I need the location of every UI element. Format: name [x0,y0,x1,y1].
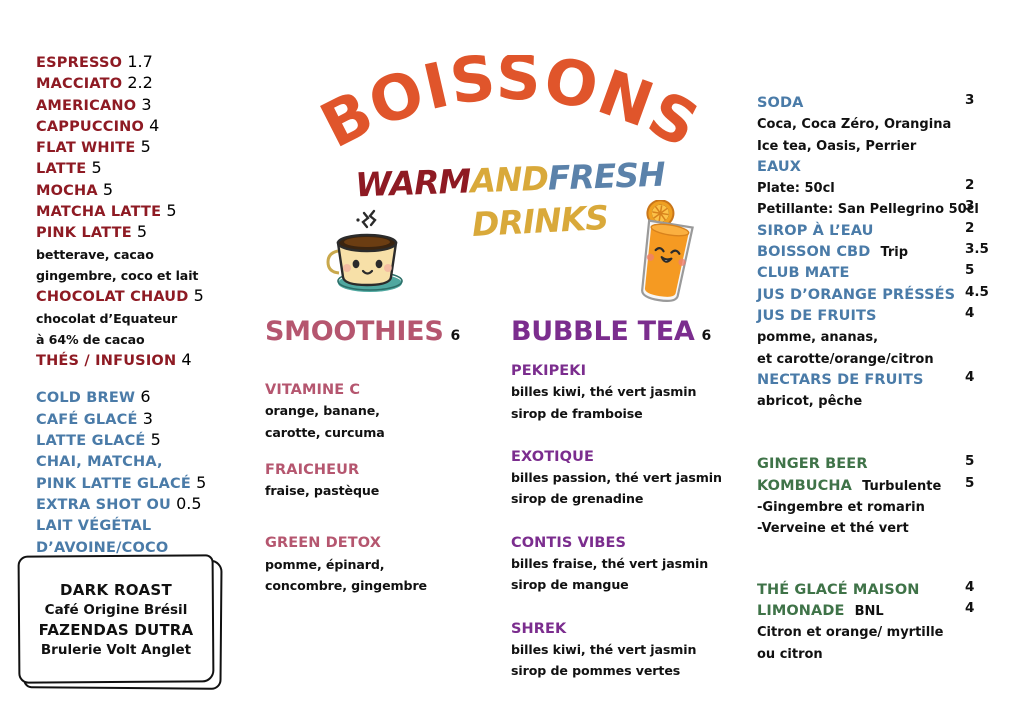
item-price: 6 [140,387,150,406]
menu-row: LAIT VÉGÉTAL [36,515,261,536]
section-price: 6 [701,328,711,344]
cold-coffee-section: COLD BREW 6 CAFÉ GLACÉ 3 LATTE GLACÉ 5 C… [36,387,261,557]
menu-row: THÉ GLACÉ MAISON 4 [757,579,1019,600]
section-heading: SMOOTHIES [265,316,443,347]
item-name: LIMONADE [757,603,845,619]
item-description: billes fraise, thé vert jasmin [511,556,708,571]
item-description: abricot, pêche [757,394,862,409]
spacer [511,347,751,360]
item-price: 4.5 [965,284,989,300]
section-heading: BUBBLE TEA [511,316,694,347]
item-name: JUS DE FRUITS [757,308,877,324]
section-spacer [36,371,261,387]
menu-title-block: BOISSONS WARMANDFRESH DRINKS [300,55,720,305]
menu-row: Plate: 50cl 2 [757,177,1019,198]
box-content: DARK ROAST Café Origine Brésil FAZENDAS … [18,581,214,658]
item-name: KOMBUCHA [757,478,852,494]
item-name: CAFÉ GLACÉ [36,412,138,428]
menu-row: CAPPUCCINO 4 [36,116,261,137]
item-name: THÉ GLACÉ MAISON [757,582,920,598]
spacer [511,510,751,532]
item-name: JUS D’ORANGE PRÉSSÉS [757,287,955,303]
menu-row: COLD BREW 6 [36,387,261,408]
item-name: LAIT VÉGÉTAL [36,518,151,534]
item-price: 1.7 [127,52,152,71]
item-name: NECTARS DE FRUITS [757,372,924,388]
item-description: pomme, épinard, [265,557,384,572]
item-name: CONTIS VIBES [511,535,626,551]
menu-row: LATTE GLACÉ 5 [36,430,261,451]
item-price: 4 [965,579,974,595]
fermented-section: GINGER BEER 5 KOMBUCHA Turbulente 5 -Gin… [757,453,1019,538]
item-name: EAUX [757,159,801,175]
item-name: Petillante: San Pellegrino 50cl [757,202,979,217]
item-price: 5 [166,201,176,220]
menu-row: PINK LATTE GLACÉ 5 [36,473,261,494]
item-name: CAPPUCCINO [36,119,144,135]
menu-row: MATCHA LATTE 5 [36,201,261,222]
menu-row: PINK LATTE 5 [36,222,261,243]
item-price: 3 [965,92,974,108]
item-description: billes kiwi, thé vert jasmin [511,384,696,399]
item-description: orange, banane, [265,403,380,418]
item-price: 5 [103,180,113,199]
smoothies-section: SMOOTHIES6 VITAMINE C orange, banane, ca… [265,316,495,596]
bubble-tea-heading-row: BUBBLE TEA6 [511,316,751,347]
item-description: -Verveine et thé vert [757,521,909,536]
item-brand: Turbulente [862,479,941,494]
item-name: CHOCOLAT CHAUD [36,289,189,305]
page-title: BOISSONS [300,55,720,170]
item-name: D’AVOINE/COCO [36,540,168,556]
item-name: BOISSON CBD [757,244,870,260]
bubble-tea-item: PEKIPEKI billes kiwi, thé vert jasmin si… [511,360,751,424]
item-name: PINK LATTE GLACÉ [36,476,191,492]
item-description: sirop de pommes vertes [511,663,680,678]
soft-drinks-section: SODA 3 Coca, Coca Zéro, Orangina Ice tea… [757,92,1019,664]
menu-row: FLAT WHITE 5 [36,137,261,158]
item-price: 2 [965,220,974,236]
item-price: 2 [965,177,974,193]
smoothie-item: GREEN DETOX pomme, épinard, concombre, g… [265,532,495,596]
item-description: fraise, pastèque [265,483,379,498]
spacer [265,501,495,532]
menu-row: LIMONADE BNL 4 [757,600,1019,621]
item-name: SHREK [511,621,566,637]
menu-row: THÉS / INFUSION 4 [36,350,261,371]
item-price: 5 [965,453,974,469]
item-brand: Trip [880,245,908,260]
item-name: MOCHA [36,183,98,199]
item-description: carotte, curcuma [265,425,385,440]
subtitle-warm: WARM [355,161,471,204]
spacer [511,596,751,618]
menu-row: SODA 3 [757,92,1019,113]
item-price: 5 [196,473,206,492]
menu-row: JUS D’ORANGE PRÉSSÉS 4.5 [757,284,1019,305]
menu-row: KOMBUCHA Turbulente 5 [757,475,1019,496]
item-description: billes kiwi, thé vert jasmin [511,642,696,657]
item-price: 4 [965,600,974,616]
hot-drinks-section: ESPRESSO 1.7 MACCIATO 2.2 AMERICANO 3 CA… [36,52,261,558]
roast-farm: FAZENDAS DUTRA [18,621,214,639]
item-name: Plate: 50cl [757,181,835,196]
item-name: FLAT WHITE [36,140,136,156]
juice-glass-illustration [625,200,711,304]
item-name: SIROP À L’EAU [757,223,873,239]
item-description: gingembre, coco et lait [36,265,261,286]
item-name: GREEN DETOX [265,535,381,551]
menu-row: LATTE 5 [36,158,261,179]
item-name: LATTE [36,161,86,177]
item-description: sirop de mangue [511,577,629,592]
menu-row: ESPRESSO 1.7 [36,52,261,73]
menu-row: CLUB MATE 5 [757,262,1019,283]
section-price: 6 [450,328,460,344]
item-name: CLUB MATE [757,265,849,281]
menu-row: CHOCOLAT CHAUD 5 [36,286,261,307]
dark-roast-box: DARK ROAST Café Origine Brésil FAZENDAS … [18,555,222,689]
item-description: pomme, ananas, [757,330,878,345]
item-name: PEKIPEKI [511,363,586,379]
item-price: 3.5 [965,241,989,257]
item-description: sirop de grenadine [511,491,643,506]
spacer [757,539,1019,579]
menu-row: EXTRA SHOT OU 0.5 [36,494,261,515]
bubble-tea-section: BUBBLE TEA6 PEKIPEKI billes kiwi, thé ve… [511,316,751,682]
item-price: 5 [965,475,974,491]
subtitle-fresh: FRESH [547,155,665,198]
menu-row: CHAI, MATCHA, [36,451,261,472]
cup-handle [328,251,339,273]
item-name: THÉS / INFUSION [36,353,176,369]
item-price: 2.2 [127,73,152,92]
menu-row: AMERICANO 3 [36,95,261,116]
item-description: à 64% de cacao [36,329,261,350]
menu-row: JUS DE FRUITS 4 [757,305,1019,326]
item-name: EXOTIQUE [511,449,594,465]
item-name: LATTE GLACÉ [36,433,146,449]
subtitle-and: AND [470,159,549,201]
roast-roaster: Brulerie Volt Anglet [18,642,214,658]
bubble-tea-item: EXOTIQUE billes passion, thé vert jasmin… [511,446,751,510]
steam-icon [356,211,375,227]
item-description: ou citron [757,647,823,662]
item-price: 5 [194,286,204,305]
item-brand: BNL [855,604,884,619]
menu-row: MACCIATO 2.2 [36,73,261,94]
coffee-cup-illustration [318,207,414,299]
item-price: 5 [965,262,974,278]
item-name: FRAICHEUR [265,462,359,478]
spacer [511,424,751,446]
item-price: 4 [149,116,159,135]
menu-row: MOCHA 5 [36,180,261,201]
menu-row: SIROP À L’EAU 2 [757,220,1019,241]
menu-row: BOISSON CBD Trip 3.5 [757,241,1019,262]
spacer [265,347,495,379]
bubble-tea-item: CONTIS VIBES billes fraise, thé vert jas… [511,532,751,596]
item-price: 3 [143,409,153,428]
menu-row: Petillante: San Pellegrino 50cl 3 [757,198,1019,219]
smoothies-heading-row: SMOOTHIES6 [265,316,495,347]
item-description: Citron et orange/ myrtille [757,625,944,640]
item-name: AMERICANO [36,98,136,114]
item-name: CHAI, MATCHA, [36,454,163,470]
item-price: 5 [151,430,161,449]
item-price: 0.5 [176,494,201,513]
item-description: betterave, cacao [36,244,261,265]
item-name: SODA [757,95,803,111]
menu-row: CAFÉ GLACÉ 3 [36,409,261,430]
menu-row: NECTARS DE FRUITS 4 [757,369,1019,390]
smoothie-item: FRAICHEUR fraise, pastèque [265,459,495,502]
item-name: ESPRESSO [36,55,122,71]
item-price: 3 [965,198,974,214]
item-name: PINK LATTE [36,225,132,241]
item-description: Ice tea, Oasis, Perrier [757,139,916,154]
item-name: COLD BREW [36,390,135,406]
item-name: VITAMINE C [265,382,360,398]
title-text: BOISSONS [309,55,711,162]
roast-title: DARK ROAST [18,581,214,599]
menu-row: GINGER BEER 5 [757,453,1019,474]
item-description: -Gingembre et romarin [757,500,925,515]
roast-origin: Café Origine Brésil [18,602,214,618]
item-name: MATCHA LATTE [36,204,161,220]
bubble-tea-item: SHREK billes kiwi, thé vert jasmin sirop… [511,618,751,682]
item-price: 3 [141,95,151,114]
house-made-section: THÉ GLACÉ MAISON 4 LIMONADE BNL 4 Citron… [757,579,1019,664]
item-name: MACCIATO [36,76,122,92]
item-description: et carotte/orange/citron [757,352,934,367]
item-price: 5 [137,222,147,241]
item-description: concombre, gingembre [265,578,427,593]
item-description: sirop de framboise [511,406,643,421]
item-name: GINGER BEER [757,456,868,472]
spacer [265,443,495,459]
menu-row: EAUX [757,156,1019,177]
smoothie-item: VITAMINE C orange, banane, carotte, curc… [265,379,495,443]
item-description: Coca, Coca Zéro, Orangina [757,117,951,132]
item-price: 4 [181,350,191,369]
item-price: 4 [965,369,974,385]
item-price: 5 [141,137,151,156]
item-price: 4 [965,305,974,321]
item-description: billes passion, thé vert jasmin [511,470,722,485]
item-description: chocolat d’Equateur [36,308,261,329]
spacer [757,411,1019,453]
item-name: EXTRA SHOT OU [36,497,171,513]
item-price: 5 [91,158,101,177]
